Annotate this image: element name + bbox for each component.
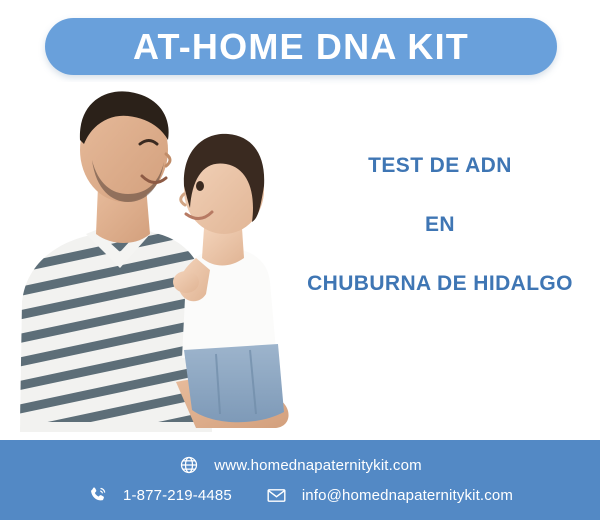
footer-row-website: www.homednapaternitykit.com	[0, 454, 600, 476]
phone-label: 1-877-219-4485	[123, 487, 232, 504]
footer-row-phone-email: 1-877-219-4485 info@homednapaternitykit.…	[0, 484, 600, 506]
email-label: info@homednapaternitykit.com	[302, 487, 513, 504]
headline-line-3: CHUBURNA DE HIDALGO	[288, 273, 592, 294]
footer-contact-bar: www.homednapaternitykit.com 1-877-219-44…	[0, 440, 600, 520]
child-eye	[196, 181, 204, 191]
page-title: AT-HOME DNA KIT	[133, 29, 469, 65]
phone-icon	[87, 484, 109, 506]
headline-line-2: EN	[288, 214, 592, 235]
child-hand	[173, 271, 199, 293]
website-label: www.homednapaternitykit.com	[214, 457, 421, 474]
contact-email[interactable]: info@homednapaternitykit.com	[266, 484, 513, 506]
hero-photo	[0, 82, 310, 462]
father-and-child-illustration	[0, 82, 310, 462]
header-banner: AT-HOME DNA KIT	[45, 18, 557, 75]
headline-block: TEST DE ADN EN CHUBURNA DE HIDALGO	[288, 155, 592, 294]
envelope-icon	[266, 484, 288, 506]
contact-phone[interactable]: 1-877-219-4485	[87, 484, 232, 506]
promo-poster: AT-HOME DNA KIT	[0, 0, 600, 520]
contact-website[interactable]: www.homednapaternitykit.com	[178, 454, 421, 476]
headline-line-1: TEST DE ADN	[288, 155, 592, 176]
globe-icon	[178, 454, 200, 476]
child-jeans	[184, 344, 284, 422]
